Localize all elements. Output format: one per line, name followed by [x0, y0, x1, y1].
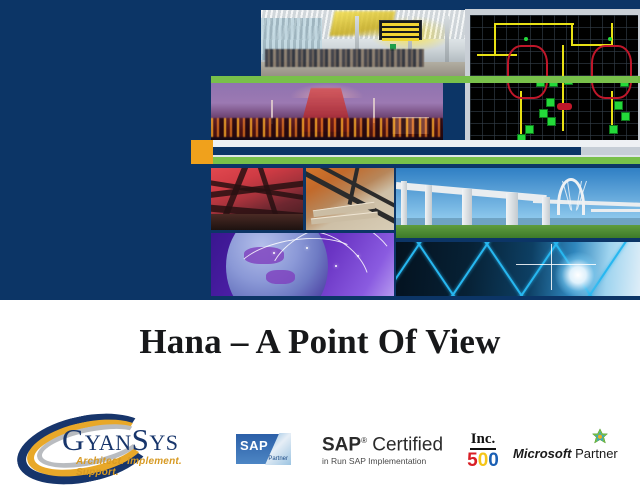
airport-terminal-photo: [261, 10, 465, 80]
gyansys-tagline: Architect. Implement. Support.: [76, 456, 204, 478]
inc500-digit-5: 5: [467, 450, 478, 471]
power-plant-night-photo: [211, 83, 443, 140]
sap-certified-subtitle: in Run SAP Implementation: [322, 456, 446, 466]
airport-crowd: [265, 49, 424, 67]
scada-canvas: [470, 15, 638, 153]
airport-column: [445, 16, 449, 65]
bridge-pier: [542, 197, 550, 225]
sap-partner-badge: SAP Partner: [236, 434, 290, 464]
sap-partner-mark: SAP: [240, 438, 268, 453]
accent-bar-green-middle: [213, 157, 640, 164]
partner-logo-strip: GyanSys Architect. Implement. Support. S…: [0, 406, 640, 480]
inc500-word: Inc.: [470, 432, 497, 450]
sap-partner-logo: SAP Partner: [236, 434, 290, 464]
valve-indicator: [614, 101, 623, 110]
accent-bar-green-top: [211, 76, 640, 83]
microsoft-brand: Microsoft: [513, 446, 572, 461]
valve-indicator: [609, 125, 618, 134]
bridge-pier: [425, 185, 432, 226]
lens-flare: [555, 252, 601, 297]
sap-certified-logo: SAP® Certified in Run SAP Implementation: [322, 430, 446, 466]
gyansys-logo: GyanSys Architect. Implement. Support.: [14, 410, 204, 474]
industrial-floor: [211, 214, 303, 230]
bridge-pier: [462, 189, 472, 225]
process-control-diagram: [465, 9, 640, 159]
page-title: Hana – A Point Of View: [0, 322, 640, 362]
valve-indicator: [546, 98, 555, 107]
banner-bottom-edge: [0, 296, 640, 300]
valve-indicator: [547, 117, 556, 126]
instrument-node: [608, 37, 612, 41]
sap-certified-line1: SAP® Certified: [322, 430, 446, 455]
microsoft-partner-logo: Microsoft Partner: [513, 428, 633, 468]
valve-indicator: [525, 125, 534, 134]
gyansys-wordmark: GyanSys: [62, 422, 178, 458]
presentation-slide: Hana – A Point Of View GyanSys Architect…: [0, 0, 640, 480]
partner-word: Partner: [575, 446, 618, 461]
pipe-segment: [494, 23, 496, 53]
microsoft-partner-glyph-icon: [589, 428, 611, 448]
inc500-digit-0b: 0: [488, 450, 499, 471]
pipe-segment: [611, 23, 613, 45]
red-industrial-photo: [211, 168, 303, 230]
bridge-deck: [591, 209, 640, 212]
microsoft-partner-text: Microsoft Partner: [513, 446, 618, 461]
flight-information-board: [379, 20, 422, 40]
vessel-tank: [591, 45, 632, 99]
water: [396, 218, 640, 225]
sap-certified-brand: SAP: [322, 434, 361, 455]
instrument-node: [524, 37, 528, 41]
blue-tech-photo: [396, 242, 640, 297]
title-slide-banner: [0, 0, 640, 300]
accent-square-orange: [191, 140, 213, 164]
sap-certified-word: Certified: [372, 434, 443, 455]
vessel-tank: [507, 45, 548, 99]
alarm-block: [557, 103, 572, 110]
valve-indicator: [621, 112, 630, 121]
flare-ray: [516, 264, 596, 265]
globe-network-photo: [211, 233, 394, 297]
bridge-pier: [401, 181, 407, 226]
bridge-pier: [506, 193, 518, 225]
pipe-segment: [494, 23, 575, 25]
tech-line: [396, 242, 430, 297]
accent-bar-white: [213, 140, 640, 147]
pipe-riser: [562, 45, 564, 131]
bridge-photo: [396, 168, 640, 238]
registered-icon: ®: [361, 436, 367, 445]
sap-partner-sub: Partner: [268, 456, 288, 462]
plant-lights: [211, 118, 443, 137]
inc500-number: 500: [459, 451, 507, 471]
accent-bar-navy: [213, 147, 581, 155]
accent-bar-grey-tail: [581, 147, 640, 155]
inc500-digit-0a: 0: [478, 450, 489, 471]
flare-ray: [551, 244, 552, 290]
pipe-segment: [571, 23, 573, 45]
grass-foreground: [396, 225, 640, 238]
orange-machinery-photo: [306, 168, 394, 230]
inc500-logo: Inc. 500: [459, 430, 507, 468]
